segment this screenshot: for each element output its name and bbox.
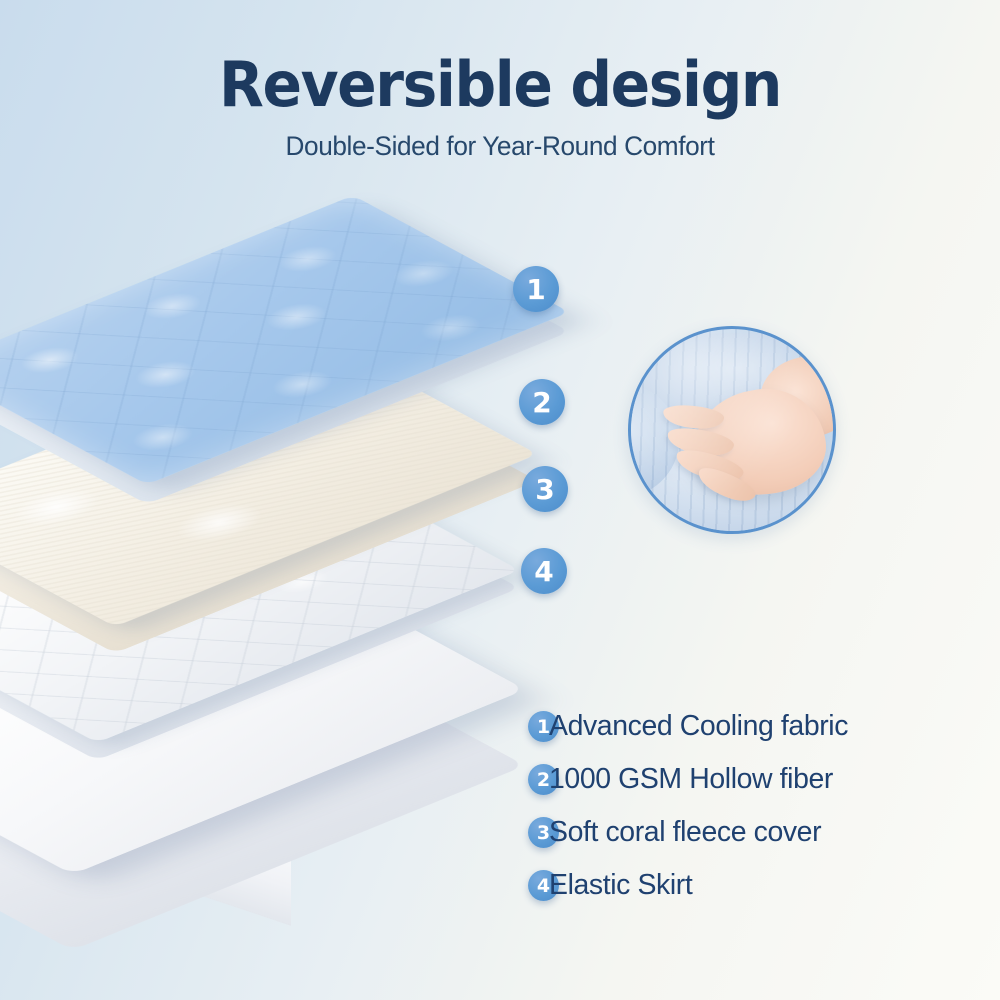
legend-label-2: 1000 GSM Hollow fiber [549,763,833,796]
layer-badge-3: 3 [522,466,568,512]
hand-press-inset-photo [628,326,836,534]
legend-item-1: 1 Advanced Cooling fabric [528,700,968,753]
layer-badge-1: 1 [513,266,559,312]
legend-item-3: 3 Soft coral fleece cover [528,806,968,859]
infographic-canvas: Reversible design Double-Sided for Year-… [0,0,1000,1000]
page-subtitle: Double-Sided for Year-Round Comfort [15,131,985,162]
header: Reversible design Double-Sided for Year-… [0,52,1000,162]
page-title: Reversible design [30,52,970,117]
layer-badge-4: 4 [521,548,567,594]
layer-badge-2: 2 [519,379,565,425]
legend-label-3: Soft coral fleece cover [549,816,821,849]
legend-item-4: 4 Elastic Skirt [528,859,968,912]
legend-item-2: 2 1000 GSM Hollow fiber [528,753,968,806]
legend-label-4: Elastic Skirt [549,869,692,902]
legend-list: 1 Advanced Cooling fabric 2 1000 GSM Hol… [528,700,968,912]
inset-highlight [631,329,833,531]
legend-label-1: Advanced Cooling fabric [549,710,848,743]
